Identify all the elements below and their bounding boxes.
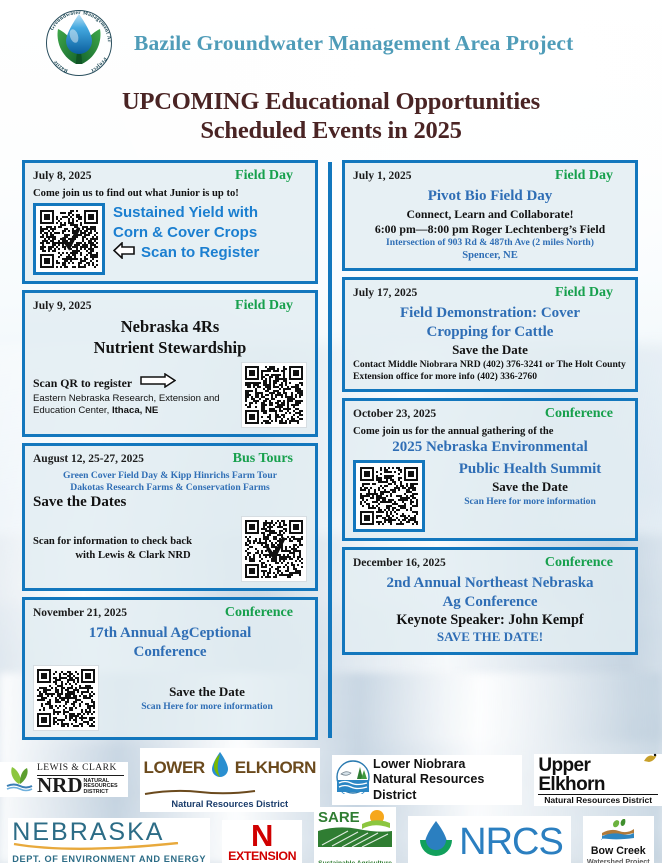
event-card-header: November 21, 2025Conference xyxy=(33,605,307,621)
event-text-line: Connect, Learn and Collaborate! xyxy=(353,207,627,222)
event-card: July 8, 2025Field DayCome join us to fin… xyxy=(22,160,318,284)
logo-secondary-text: NRD xyxy=(37,776,83,796)
nrcs-drop-mark xyxy=(416,818,456,863)
event-text-line: Nutrient Stewardship xyxy=(33,338,307,359)
event-card-header: July 8, 2025Field Day xyxy=(33,168,307,184)
event-text-line: Save the Date xyxy=(107,684,307,701)
bird-mark xyxy=(642,752,658,768)
event-text-line: Nebraska 4Rs xyxy=(33,317,307,338)
lower-niobrara-nrd-logo: Lower NiobraraNatural Resources District xyxy=(332,755,522,804)
event-text-line: with Lewis & Clark NRD xyxy=(33,549,233,562)
logo-primary-text: Lower Niobrara xyxy=(373,757,518,772)
event-date: July 1, 2025 xyxy=(353,170,411,182)
bow-creek-icon xyxy=(601,818,635,840)
nebraska-dee-logo: NEBRASKADEPT. OF ENVIRONMENT AND ENERGY xyxy=(8,818,210,863)
logo-graphic: Groundwater Management Area Project Bazi… xyxy=(42,6,116,80)
event-date: July 8, 2025 xyxy=(33,170,91,182)
swoosh-icon xyxy=(144,784,317,800)
logo-primary-text: Upper Elkhorn xyxy=(538,756,653,794)
swoosh-icon xyxy=(12,839,206,855)
event-type-badge: Field Day xyxy=(235,168,307,184)
poster-header: Groundwater Management Area Project Bazi… xyxy=(0,0,662,86)
event-type-badge: Field Day xyxy=(235,298,307,314)
scan-instruction: Scan QR to register xyxy=(33,376,132,391)
event-type-badge: Field Day xyxy=(555,285,627,301)
bird-icon xyxy=(642,752,658,764)
event-text-line: Eastern Nebraska Research, Extension and xyxy=(33,393,233,405)
leaf-icon xyxy=(4,762,34,792)
event-text-line: Field Demonstration: Cover xyxy=(353,304,627,323)
event-text-line: 2025 Nebraska Environmental xyxy=(353,438,627,457)
event-text-line: 2nd Annual Northeast Nebraska xyxy=(353,574,627,593)
qr-code[interactable] xyxy=(241,516,307,582)
arrow-right-icon xyxy=(140,373,176,393)
event-card: November 21, 2025Conference17th Annual A… xyxy=(22,597,318,740)
event-card: July 17, 2025Field DayField Demonstratio… xyxy=(342,277,638,392)
event-text-line: Scan for information to check back xyxy=(33,535,233,548)
event-type-badge: Bus Tours xyxy=(233,451,307,467)
poster-heading: UPCOMING Educational Opportunities Sched… xyxy=(0,88,662,145)
event-qr-row: Sustained Yield withCorn & Cover CropsSc… xyxy=(33,203,307,275)
sponsor-logos: LEWIS & CLARKNRDNATURAL RESOURCES DISTRI… xyxy=(0,749,662,863)
event-text-line: Ag Conference xyxy=(353,593,627,612)
page-title: Bazile Groundwater Management Area Proje… xyxy=(134,31,573,56)
event-text-line: Sustained Yield with xyxy=(113,203,307,222)
nrcs-drop-icon xyxy=(416,818,456,860)
event-date: August 12, 25-27, 2025 xyxy=(33,453,144,465)
event-card: August 12, 25-27, 2025Bus ToursGreen Cov… xyxy=(22,443,318,591)
logo-secondary-text: DEPT. OF ENVIRONMENT AND ENERGY xyxy=(12,855,206,863)
event-qr-row: Save the DateScan Here for more informat… xyxy=(33,665,307,731)
event-text-line: Come join us for the annual gathering of… xyxy=(353,425,627,438)
logo-primary-text: Bow Creek xyxy=(587,845,650,857)
event-text-line: 6:00 pm—8:00 pm Roger Lechtenberg’s Fiel… xyxy=(353,222,627,237)
upper-elkhorn-nrd-logo: Upper ElkhornNatural Resources District xyxy=(534,754,662,807)
event-type-badge: Field Day xyxy=(555,168,627,184)
event-qr-caption: Sustained Yield withCorn & Cover CropsSc… xyxy=(113,203,307,263)
event-text-line: Intersection of 903 Rd & 487th Ave (2 mi… xyxy=(353,237,627,249)
circle-landscape-icon xyxy=(336,760,370,794)
logo-primary2-text: ELKHORN xyxy=(235,759,316,776)
event-text-line: Come join us to find out what Junior is … xyxy=(33,187,307,200)
event-card-header: December 16, 2025Conference xyxy=(353,555,627,571)
event-text-line: Dakotas Research Farms & Conservation Fa… xyxy=(33,482,307,494)
nrcs-logo: NRCS xyxy=(408,816,571,863)
events-board: July 8, 2025Field DayCome join us to fin… xyxy=(22,160,640,740)
sare-logo: SARESustainable AgricultureResearch & Ed… xyxy=(314,807,396,863)
event-type-badge: Conference xyxy=(545,406,627,422)
event-text-line: Save the Date xyxy=(353,342,627,359)
scan-instruction: Scan to Register xyxy=(141,243,259,262)
event-text-line: Keynote Speaker: John Kempf xyxy=(353,612,627,629)
event-type-badge: Conference xyxy=(225,605,307,621)
heading-line-2: Scheduled Events in 2025 xyxy=(0,117,662,146)
logo-secondary-text: Watershed Project xyxy=(587,857,650,863)
event-text-line: Cropping for Cattle xyxy=(353,323,627,342)
bow-creek-logo: Bow CreekWatershed Project xyxy=(583,816,654,863)
lewis-clark-nrd-logo: LEWIS & CLARKNRDNATURAL RESOURCES DISTRI… xyxy=(0,762,128,797)
event-date: October 23, 2025 xyxy=(353,408,436,420)
bow-creek-mark xyxy=(587,818,650,845)
water-leaf-icon xyxy=(207,750,233,780)
event-text-line: Save the Date xyxy=(433,479,627,496)
event-text-line: Education Center, Ithaca, NE xyxy=(33,405,233,417)
event-text-line: Corn & Cover Crops xyxy=(113,223,307,242)
event-qr-caption: Public Health SummitSave the DateScan He… xyxy=(433,460,627,508)
water-leaf-mark xyxy=(207,750,233,784)
event-text-line: SAVE THE DATE! xyxy=(353,629,627,646)
event-date: November 21, 2025 xyxy=(33,607,127,619)
logo-secondary-text: Natural Resources District xyxy=(144,800,317,809)
event-card: December 16, 2025Conference2nd Annual No… xyxy=(342,547,638,655)
event-text-line: 17th Annual AgCeptional xyxy=(33,624,307,643)
logo-tertiary-text: NATURAL RESOURCES DISTRICT xyxy=(84,779,124,796)
event-text-line: Conference xyxy=(33,643,307,662)
logo-primary-text: NRCS xyxy=(459,823,563,861)
event-qr-row: Scan QR to registerEastern Nebraska Rese… xyxy=(33,362,307,428)
event-text-line: Green Cover Field Day & Kipp Hinrichs Fa… xyxy=(33,470,307,482)
qr-code[interactable] xyxy=(33,665,99,731)
bazile-gwma-logo: Groundwater Management Area Project Bazi… xyxy=(42,6,116,80)
event-card-header: July 17, 2025Field Day xyxy=(353,285,627,301)
sponsor-logo-row-1: LEWIS & CLARKNRDNATURAL RESOURCES DISTRI… xyxy=(0,749,662,811)
event-qr-caption: Scan for information to check backwith L… xyxy=(33,535,233,561)
event-date: July 17, 2025 xyxy=(353,287,417,299)
events-column-left: July 8, 2025Field DayCome join us to fin… xyxy=(22,160,318,740)
logo-secondary-text: Natural Resources District xyxy=(538,794,658,805)
event-text-line: Pivot Bio Field Day xyxy=(353,187,627,206)
event-card: July 9, 2025Field DayNebraska 4RsNutrien… xyxy=(22,290,318,437)
poster-page: Groundwater Management Area Project Bazi… xyxy=(0,0,662,863)
logo-secondary-text: EXTENSION xyxy=(228,850,296,862)
event-card: July 1, 2025Field DayPivot Bio Field Day… xyxy=(342,160,638,271)
event-text-emphasis: Ithaca, NE xyxy=(112,405,158,416)
qr-code[interactable] xyxy=(241,362,307,428)
qr-code[interactable] xyxy=(353,460,425,532)
qr-code[interactable] xyxy=(33,203,105,275)
column-divider xyxy=(318,160,342,740)
event-qr-row: Scan for information to check backwith L… xyxy=(33,516,307,582)
circle-landscape-mark xyxy=(336,760,370,799)
event-card-header: August 12, 25-27, 2025Bus Tours xyxy=(33,451,307,467)
sare-fields-icon: SARE xyxy=(318,809,392,855)
lower-elkhorn-nrd-logo: LOWERELKHORNNatural Resources District xyxy=(140,748,321,811)
event-qr-caption: Save the DateScan Here for more informat… xyxy=(107,684,307,713)
event-type-badge: Conference xyxy=(545,555,627,571)
event-card-header: July 9, 2025Field Day xyxy=(33,298,307,314)
event-card: October 23, 2025ConferenceCome join us f… xyxy=(342,398,638,541)
event-text-line: Scan Here for more information xyxy=(433,496,627,508)
nebraska-extension-logo: NEXTENSION xyxy=(222,820,302,863)
event-text-line: Public Health Summit xyxy=(433,460,627,479)
events-column-right: July 1, 2025Field DayPivot Bio Field Day… xyxy=(342,160,638,740)
svg-text:SARE: SARE xyxy=(318,809,360,826)
event-text-line: Contact Middle Niobrara NRD (402) 376-32… xyxy=(353,359,627,382)
logo-primary-text: N xyxy=(228,821,296,850)
event-date: July 9, 2025 xyxy=(33,300,91,312)
event-qr-row: Public Health SummitSave the DateScan He… xyxy=(353,460,627,532)
logo-secondary-text: Natural Resources District xyxy=(373,772,518,802)
event-text-line: Save the Dates xyxy=(33,493,307,512)
event-date: December 16, 2025 xyxy=(353,557,446,569)
event-card-header: October 23, 2025Conference xyxy=(353,406,627,422)
heading-line-1: UPCOMING Educational Opportunities xyxy=(0,88,662,117)
event-text-line: Scan QR to register xyxy=(33,373,233,393)
arrow-left-icon xyxy=(113,242,135,264)
leaf-mark xyxy=(4,762,34,797)
sare-mark: SARE xyxy=(318,809,392,860)
event-text-line: Scan to Register xyxy=(113,242,307,264)
event-text-line: Spencer, NE xyxy=(353,249,627,262)
sponsor-logo-row-2: NEBRASKADEPT. OF ENVIRONMENT AND ENERGYN… xyxy=(0,811,662,863)
event-text-line: Scan Here for more information xyxy=(107,701,307,713)
event-card-header: July 1, 2025Field Day xyxy=(353,168,627,184)
logo-primary-text: LOWER xyxy=(144,759,205,776)
event-qr-caption: Scan QR to registerEastern Nebraska Rese… xyxy=(33,373,233,416)
